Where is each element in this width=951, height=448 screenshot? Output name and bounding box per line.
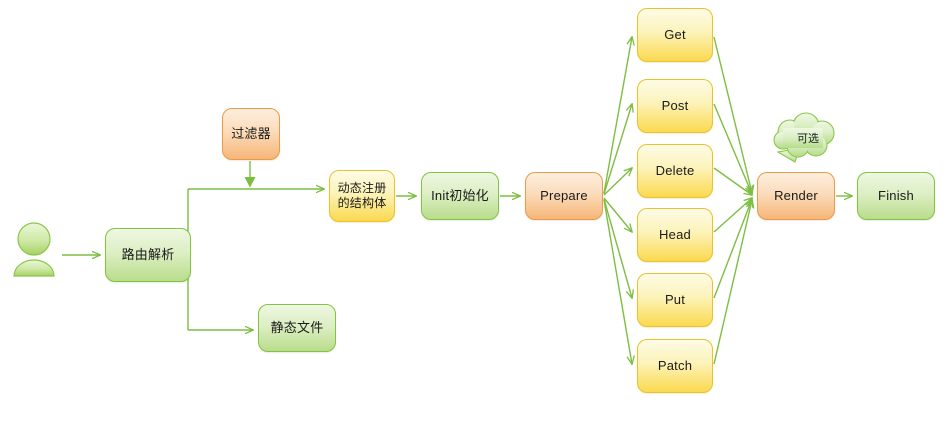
node-post[interactable]: Post [637,79,713,133]
node-dynamic-struct[interactable]: 动态注册 的结构体 [329,170,395,222]
node-label: Post [662,98,689,114]
optional-callout-label: 可选 [772,130,844,146]
edge-prepare-patch [604,200,632,364]
edge-get-render [714,37,752,193]
node-label: Render [774,188,818,204]
flowchart-canvas: 可选 路由解析 过滤器 静态文件 动态注册 的结构体 Init初始化 Prepa… [0,0,951,448]
edge-prepare-post [604,104,632,194]
edge-patch-render [714,200,752,364]
node-route-parse[interactable]: 路由解析 [105,228,191,282]
node-finish[interactable]: Finish [857,172,935,220]
edge-delete-render [714,168,752,195]
node-label: Delete [656,163,695,179]
node-label: Get [664,27,686,43]
edge-put-render [714,199,752,298]
node-label: Init初始化 [431,188,489,204]
edge-prepare-head [604,198,632,232]
node-label: 路由解析 [122,247,175,263]
node-init[interactable]: Init初始化 [421,172,499,220]
node-label: Finish [878,188,914,204]
node-label: 过滤器 [231,126,271,142]
edge-prepare-get [604,37,632,193]
node-filter[interactable]: 过滤器 [222,108,280,160]
edge-prepare-delete [604,168,632,195]
node-get[interactable]: Get [637,8,713,62]
optional-callout: 可选 [772,118,844,170]
edge-prepare-put [604,199,632,298]
node-label: 静态文件 [271,320,324,336]
node-label: Prepare [540,188,588,204]
edge-layer [0,0,951,448]
node-render[interactable]: Render [757,172,835,220]
edge-post-render [714,104,752,194]
node-head[interactable]: Head [637,208,713,262]
node-label: Patch [658,358,692,374]
node-static-file[interactable]: 静态文件 [258,304,336,352]
node-prepare[interactable]: Prepare [525,172,603,220]
edge-head-render [714,198,752,232]
node-put[interactable]: Put [637,273,713,327]
node-label: Head [659,227,691,243]
node-patch[interactable]: Patch [637,339,713,393]
node-label: Put [665,292,685,308]
user-actor-icon [14,223,54,276]
node-delete[interactable]: Delete [637,144,713,198]
node-label: 动态注册 的结构体 [338,181,387,211]
